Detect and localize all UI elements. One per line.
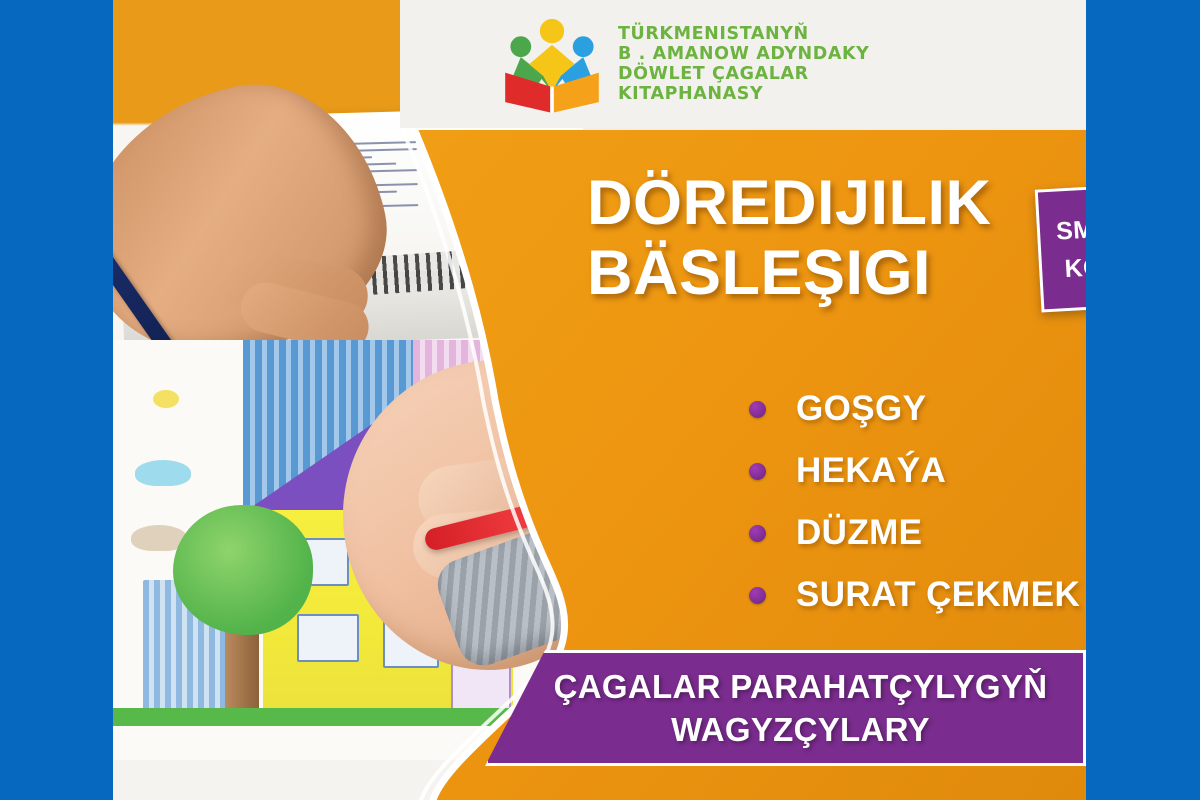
slogan-banner: ÇAGALAR PARAHATÇYLYGYŇ WAGYZÇYLARY	[485, 650, 1086, 766]
slogan-text: ÇAGALAR PARAHATÇYLYGYŇ WAGYZÇYLARY	[485, 650, 1086, 766]
organization-name: TÜRKMENISTANYŇ B . AMANOW ADYNDAKY DÖWLE…	[618, 24, 869, 104]
list-item: GOŞGY	[749, 378, 1080, 440]
org-line-3: DÖWLET ÇAGALAR	[618, 64, 869, 84]
page-title: DÖREDIJILIK BÄSLEŞIGI	[587, 168, 1057, 308]
bullet-dot-icon	[749, 587, 766, 604]
library-children-book-logo-icon	[500, 12, 604, 116]
org-line-2: B . AMANOW ADYNDAKY	[618, 44, 869, 64]
category-list: GOŞGY HEKAÝA DÜZME SURAT ÇEKMEK	[749, 378, 1080, 626]
category-label: DÜZME	[796, 513, 922, 553]
org-line-1: TÜRKMENISTANYŇ	[618, 24, 869, 44]
list-item: HEKAÝA	[749, 440, 1080, 502]
poster-canvas: TÜRKMENISTANYŇ B . AMANOW ADYNDAKY DÖWLE…	[113, 0, 1086, 800]
category-label: HEKAÝA	[796, 451, 946, 491]
header-band: TÜRKMENISTANYŇ B . AMANOW ADYNDAKY DÖWLE…	[400, 0, 1086, 128]
category-label: SURAT ÇEKMEK	[796, 575, 1080, 615]
slogan-line-1: ÇAGALAR PARAHATÇYLYGYŇ	[554, 665, 1048, 708]
sms-number: SMS: 0530	[1055, 205, 1086, 250]
org-line-4: KITAPHANASY	[618, 84, 869, 104]
bullet-dot-icon	[749, 463, 766, 480]
headline-line-2: BÄSLEŞIGI	[587, 238, 1057, 308]
category-label: GOŞGY	[796, 389, 926, 429]
slogan-line-2: WAGYZÇYLARY	[671, 708, 930, 751]
kod-number: KOD: 440	[1064, 243, 1086, 287]
headline-line-1: DÖREDIJILIK	[587, 168, 1057, 238]
poster-root: TÜRKMENISTANYŇ B . AMANOW ADYNDAKY DÖWLE…	[0, 0, 1200, 800]
bullet-dot-icon	[749, 401, 766, 418]
list-item: DÜZME	[749, 502, 1080, 564]
list-item: SURAT ÇEKMEK	[749, 564, 1080, 626]
bullet-dot-icon	[749, 525, 766, 542]
sms-code-badge: SMS: 0530 KOD: 440	[1035, 180, 1086, 312]
